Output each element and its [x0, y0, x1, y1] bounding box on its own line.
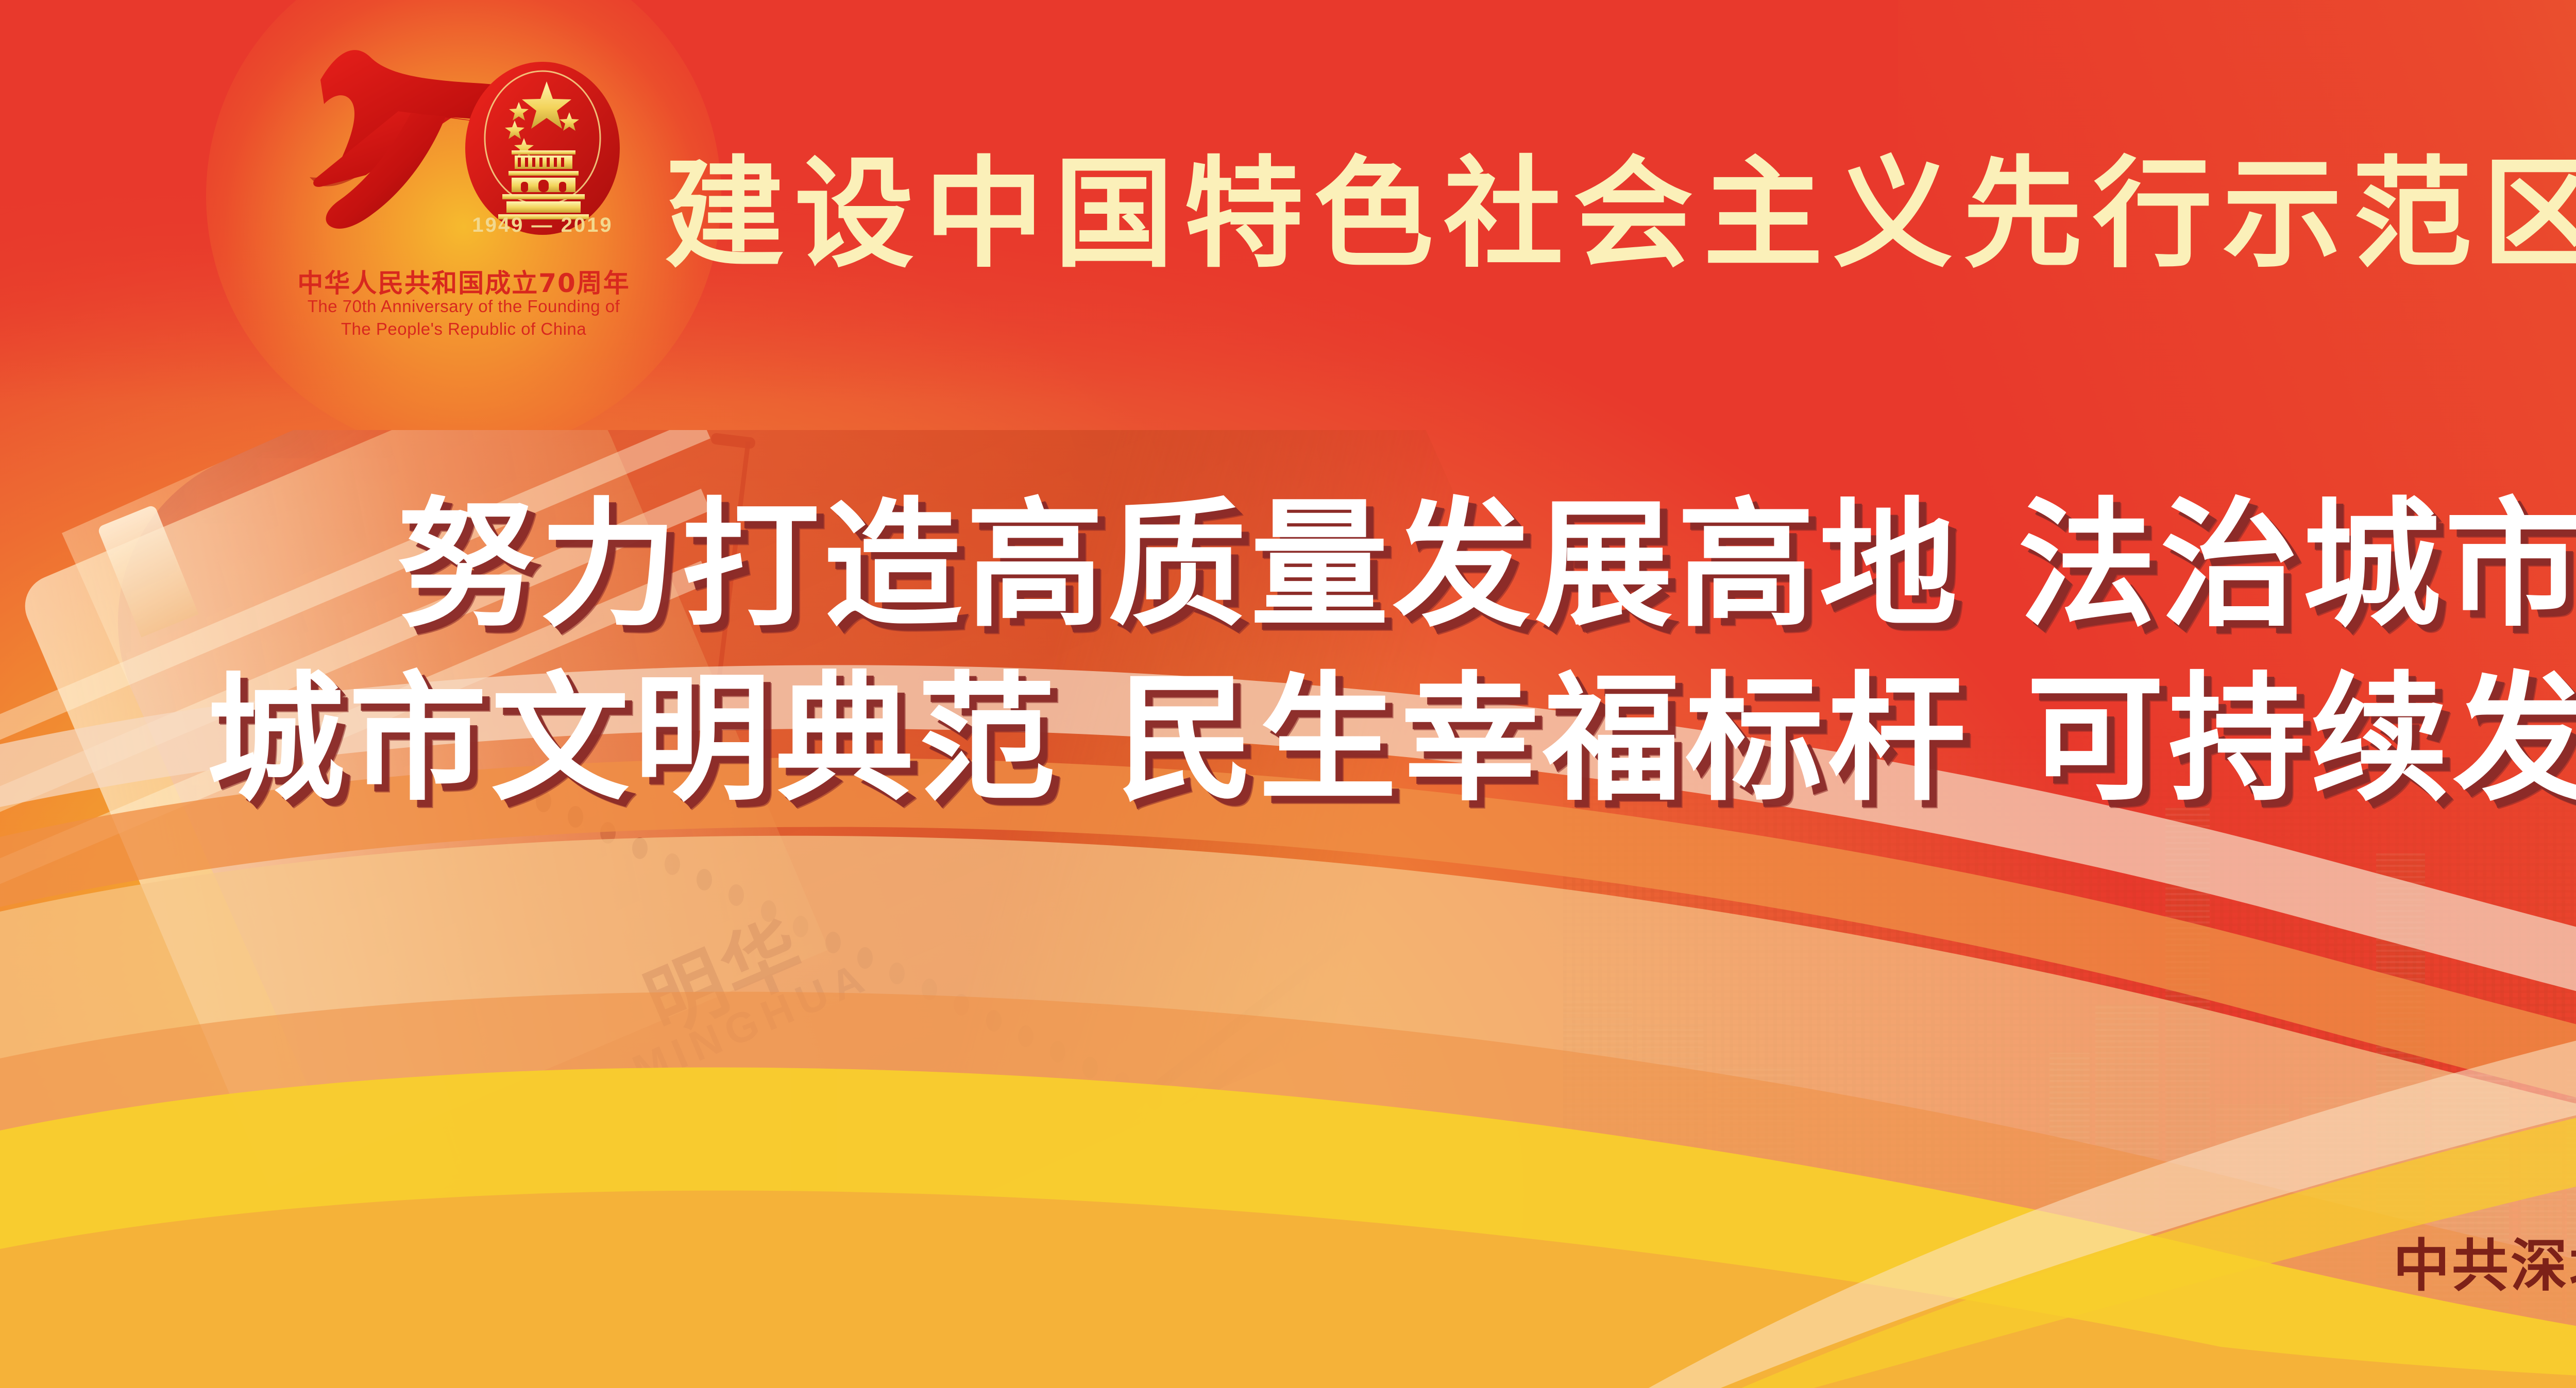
slogan-line1-part1: 努力打造高质量发展高地	[397, 485, 1961, 646]
credit-line: 中共深圳市委宣传部监制	[2393, 1220, 2576, 1302]
logo-title-chinese: 中华人民共和国成立70周年	[260, 263, 667, 300]
credit-issuer: 中共深圳市委宣传部	[2393, 1233, 2576, 1299]
slogan-line1-part2: 法治城市示范	[2018, 485, 2576, 646]
slogan-line2-part2: 民生幸福标杆	[1116, 659, 1970, 820]
logo-emblem-graphic: 1949 — 2019	[260, 10, 667, 252]
slogan-line2-part3: 可持续发展先锋	[2026, 659, 2576, 820]
70th-anniversary-logo: 1949 — 2019 中华人民共和国成立70周年 The 70th Anniv…	[260, 10, 667, 361]
headline-text: 建设中国特色社会主义先行示范区	[665, 155, 2576, 274]
banner-poster: 明华 MINGHUA	[0, 0, 2576, 1388]
slogan-line-1: 努力打造高质量发展高地法治城市示范	[31, 479, 2576, 653]
slogan-line-2: 城市文明典范民生幸福标杆可持续发展先锋	[0, 653, 2576, 827]
slogan-block: 努力打造高质量发展高地法治城市示范 城市文明典范民生幸福标杆可持续发展先锋	[0, 479, 2576, 827]
logo-title-english-line2: The People's Republic of China	[260, 319, 667, 339]
logo-years-text: 1949 — 2019	[472, 214, 613, 236]
slogan-line2-part1: 城市文明典范	[207, 659, 1060, 820]
logo-title-english-line1: The 70th Anniversary of the Founding of	[260, 297, 667, 316]
